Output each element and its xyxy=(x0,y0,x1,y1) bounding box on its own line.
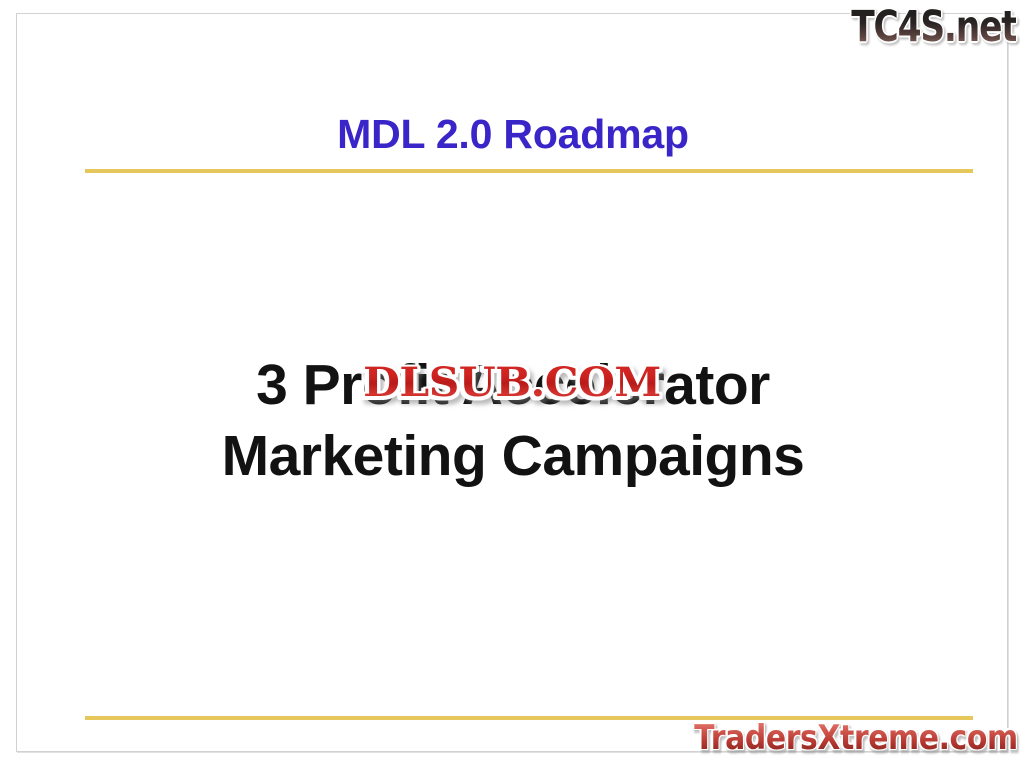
watermark-tradersxtreme: TradersXtreme.com xyxy=(694,718,1018,758)
slide-screen: MDL 2.0 Roadmap 3 Profit Accelerator Mar… xyxy=(0,0,1024,768)
page-title: MDL 2.0 Roadmap xyxy=(69,111,957,158)
divider-top xyxy=(85,169,973,173)
watermark-tc4s: TC4S.net xyxy=(851,2,1016,52)
body-line-2: Marketing Campaigns xyxy=(69,421,957,492)
watermark-dlsub: DLSUB.COM xyxy=(363,359,661,406)
